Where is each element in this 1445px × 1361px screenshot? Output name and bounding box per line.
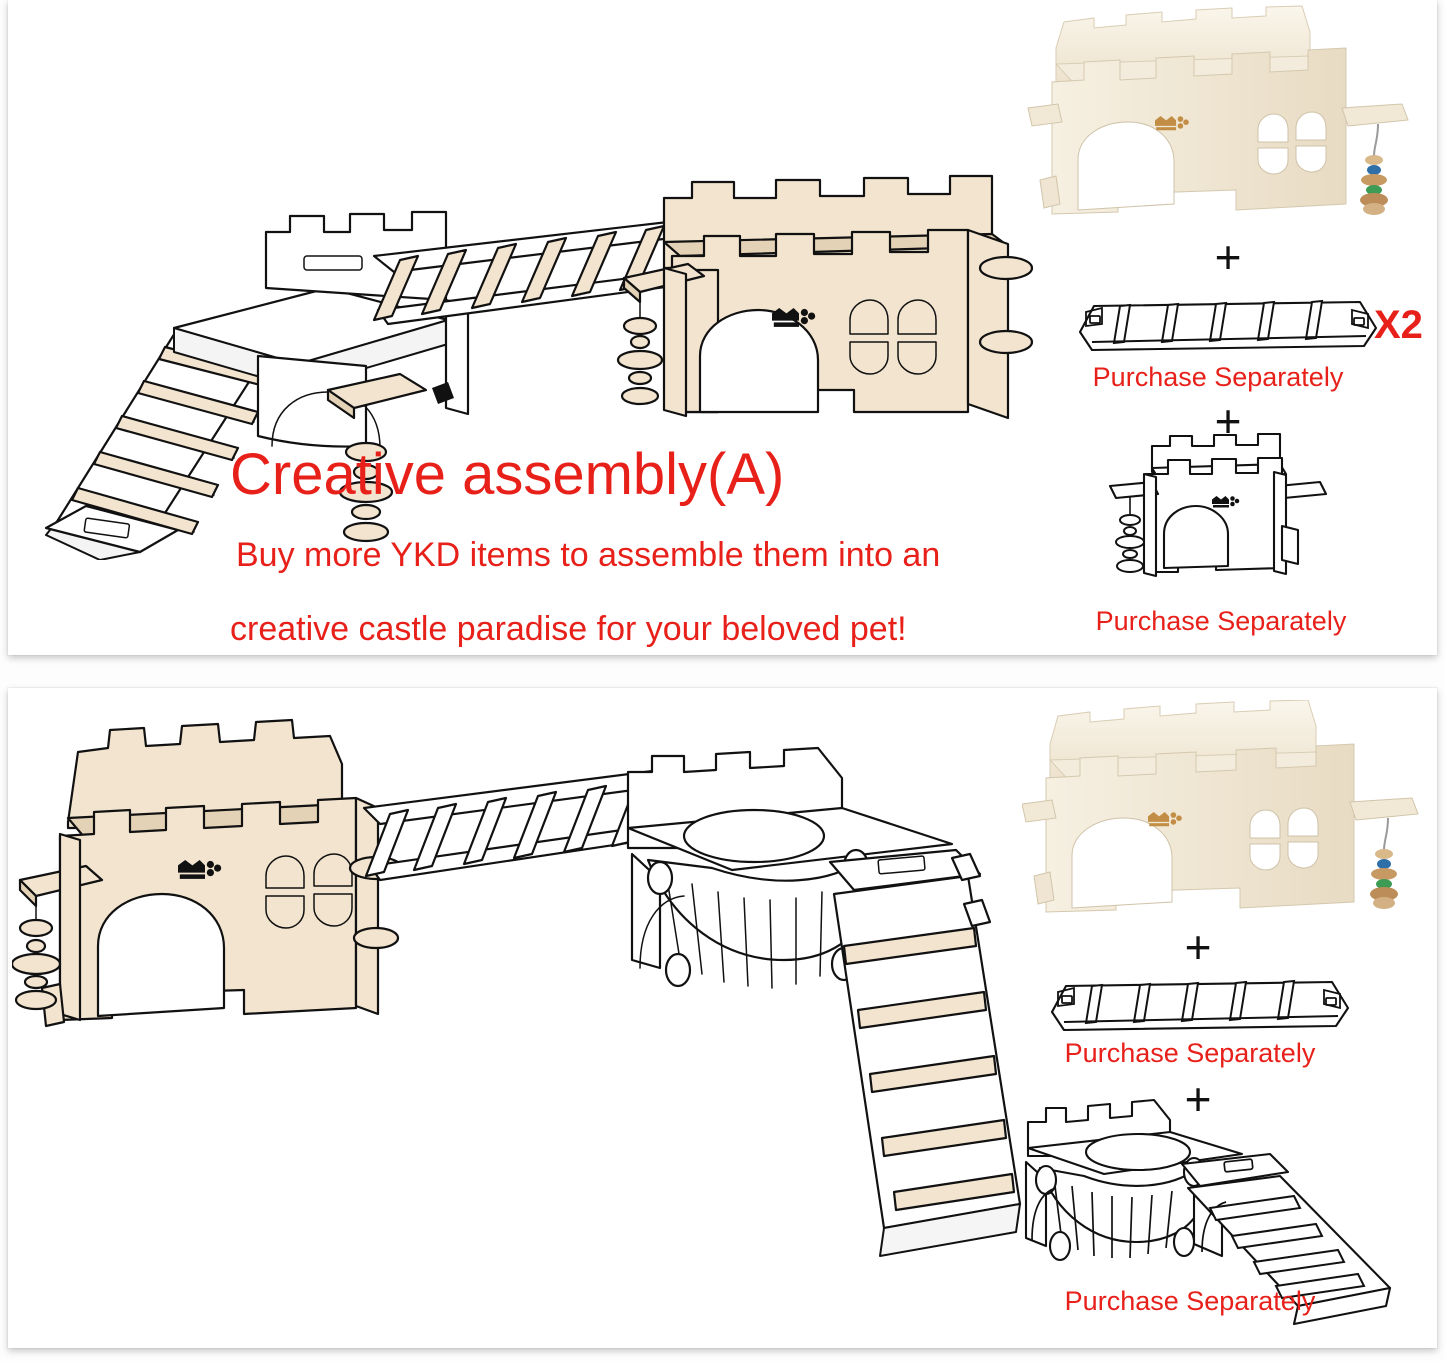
addon-bridge-a [1068, 290, 1388, 360]
assembly-panel-b: .o2{fill:none;stroke:#111;stroke-width:2… [8, 688, 1437, 1348]
plus-sign-a-1: + [1198, 234, 1258, 280]
addon-bridge-b-caption: Purchase Separately [1040, 1040, 1340, 1067]
addon-bridge-a-caption: Purchase Separately [1068, 364, 1368, 391]
panel-a-title: Creative assembly(A) [230, 446, 784, 504]
addon-tower-ramp-b-caption: Purchase Separately [1040, 1288, 1340, 1315]
castle-left-b [20, 720, 402, 1026]
addon-bridge-b [1040, 970, 1360, 1040]
plus-sign-b-1: + [1168, 924, 1228, 970]
hanging-toy-a-right [618, 292, 662, 404]
hero-castle-photo-b [1022, 700, 1437, 922]
hero-castle-photo-a [1022, 4, 1437, 226]
panel-a-subline-1: Buy more YKD items to assemble them into… [236, 538, 940, 572]
assembly-panel-a: .o{fill:none;stroke:#111;stroke-width:2.… [8, 0, 1437, 655]
addon-bridge-a-quantity: X2 [1374, 305, 1423, 345]
product-image-stage: .o{fill:none;stroke:#111;stroke-width:2.… [0, 0, 1445, 1361]
tower-wheel-right-b [628, 748, 1020, 1256]
addon-castle-a [1086, 430, 1366, 610]
panel-a-subline-2: creative castle paradise for your belove… [230, 612, 907, 646]
assembly-illustration-b: .o2{fill:none;stroke:#111;stroke-width:2… [12, 708, 1022, 1318]
castle-right-a [624, 176, 1032, 418]
addon-castle-a-caption: Purchase Separately [1066, 608, 1376, 635]
